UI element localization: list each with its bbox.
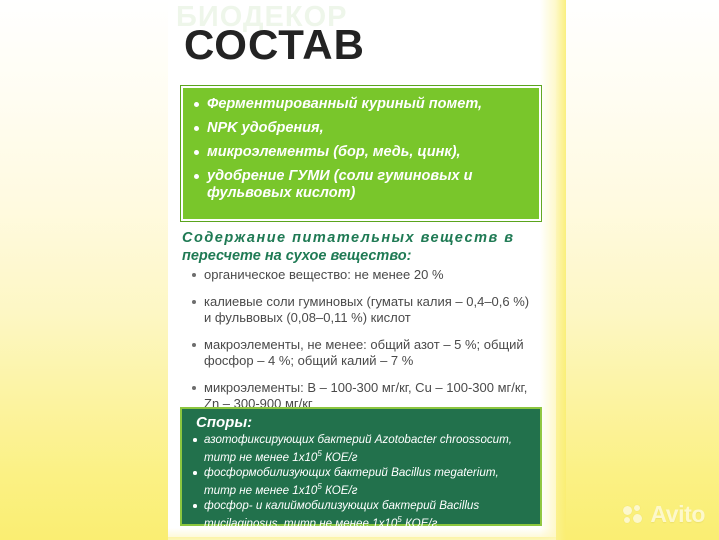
list-item: фосфор- и калиймобилизующих бактерий Bac…: [190, 499, 532, 530]
nutrients-heading: Содержание питательных веществ в пересче…: [182, 229, 540, 265]
spores-box: Споры: азотофиксирующих бактерий Azotoba…: [180, 407, 542, 526]
avito-watermark: Avito: [623, 503, 705, 526]
spore-unit: КОЕ/г: [322, 484, 358, 497]
list-item: калиевые соли гуминовых (гуматы калия – …: [190, 294, 538, 326]
nutrients-list: органическое вещество: не менее 20 % кал…: [190, 267, 538, 423]
spore-text: фосфор- и калиймобилизующих бактерий Bac…: [204, 499, 479, 529]
spores-title: Споры:: [196, 414, 532, 432]
ingredients-list: Ферментированный куриный помет, NPK удоб…: [191, 96, 529, 202]
list-item: фосформобилизующих бактерий Bacillus meg…: [190, 466, 532, 497]
page-title: СОСТАВ: [184, 22, 365, 68]
spore-unit: КОЕ/г: [402, 517, 438, 530]
avito-wordmark: Avito: [650, 503, 705, 526]
list-item: NPK удобрения,: [191, 120, 529, 137]
product-label-card: БИОДЕКОР СОСТАВ Ферментированный куриный…: [168, 0, 556, 537]
nutrients-heading-line-1: Содержание питательных веществ в: [182, 229, 540, 247]
list-item: органическое вещество: не менее 20 %: [190, 267, 538, 283]
spore-text: азотофиксирующих бактерий Azotobacter ch…: [204, 433, 512, 463]
ingredients-box: Ферментированный куриный помет, NPK удоб…: [181, 86, 541, 221]
list-item: макроэлементы, не менее: общий азот – 5 …: [190, 337, 538, 369]
avito-logo-icon: [623, 505, 645, 525]
list-item: удобрение ГУМИ (соли гуминовых и фульвов…: [191, 168, 529, 202]
list-item: микроэлементы (бор, медь, цинк),: [191, 144, 529, 161]
spores-list: азотофиксирующих бактерий Azotobacter ch…: [190, 433, 532, 530]
spore-unit: КОЕ/г: [322, 450, 358, 463]
list-item: Ферментированный куриный помет,: [191, 96, 529, 113]
screenshot-stage: БИОДЕКОР СОСТАВ Ферментированный куриный…: [0, 0, 719, 540]
list-item: азотофиксирующих бактерий Azotobacter ch…: [190, 433, 532, 464]
nutrients-heading-line-2: пересчете на сухое вещество:: [182, 247, 540, 265]
